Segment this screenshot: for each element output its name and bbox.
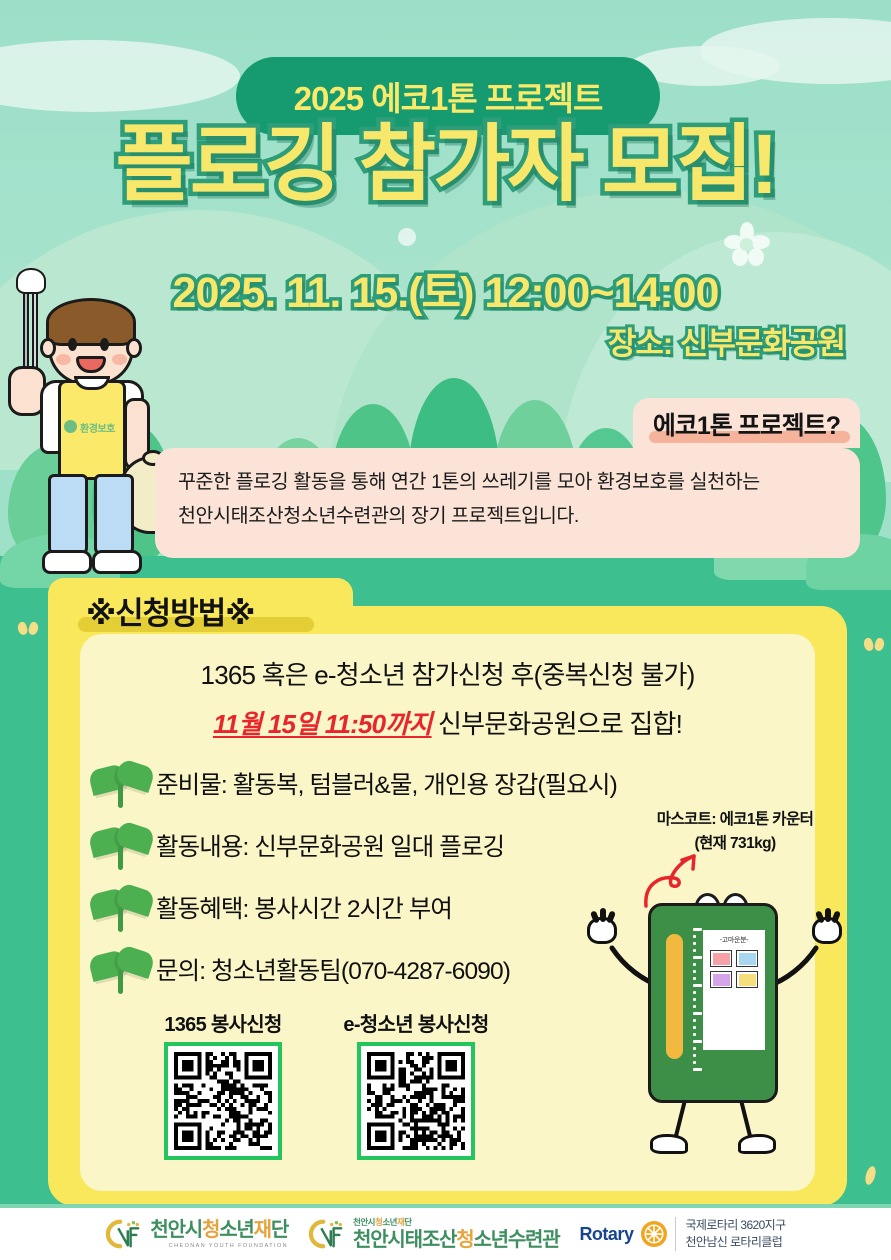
logo-rotary: Rotary 국제로타리 3620지구 천안남신 로타리클럽 <box>579 1217 785 1252</box>
boy-eye <box>68 338 77 351</box>
logo-title: 천안시태조산청소년수련관 <box>353 1230 559 1250</box>
qr-code-echeongsonyeon[interactable] <box>357 1042 475 1160</box>
rotary-wordmark: Rotary <box>579 1224 633 1245</box>
leaf-icon <box>88 882 156 932</box>
footer-logos: 천안시청소년재단 CHEONAN YOUTH FOUNDATION 천안시청소년… <box>0 1204 891 1260</box>
qr-code-1365[interactable] <box>164 1042 282 1160</box>
list-item: 활동내용: 신부문화공원 일대 플로깅 <box>88 814 688 876</box>
apply-line-1: 1365 혹은 e-청소년 참가신청 후(중복신청 불가) <box>80 655 815 692</box>
leaf-icon <box>88 944 156 994</box>
apply-line-2-rest: 신부문화공원으로 집합! <box>432 709 682 739</box>
poster-root: 2025 에코1톤 프로젝트 플로깅 참가자 모집! 2025. 11. 15.… <box>0 0 891 1260</box>
event-place: 장소: 신부문화공원 <box>608 318 845 363</box>
mascot-scale-ticks <box>693 928 696 1066</box>
mascot-hand-left <box>587 917 617 944</box>
mascot-body: -고마운분- <box>648 903 778 1103</box>
cyf-logo-icon <box>308 1217 346 1251</box>
apply-tab-label: ※신청방법※ <box>86 588 254 633</box>
boy-ear <box>126 338 142 358</box>
photo-card <box>736 950 758 967</box>
vest-logo-icon <box>64 420 77 433</box>
mascot-board: -고마운분- <box>703 930 765 1050</box>
about-line-2: 천안시태조산청소년수련관의 장기 프로젝트입니다. <box>178 500 843 534</box>
leaf-icon <box>88 820 156 870</box>
mascot-progress-bar <box>666 934 683 1059</box>
boy-eye <box>100 338 109 351</box>
rotary-wheel-icon <box>640 1220 668 1248</box>
boy-pants <box>94 474 134 556</box>
about-line-1: 꾸준한 플로깅 활동을 통해 연간 1톤의 쓰레기를 모아 환경보호를 실천하는 <box>178 466 843 500</box>
photo-card <box>710 950 732 967</box>
list-item: 준비물: 활동복, 텀블러&물, 개인용 장갑(필요시) <box>88 752 688 814</box>
logo-subtitle: CHEONAN YOUTH FOUNDATION <box>150 1243 288 1249</box>
boy-cheek <box>112 354 127 365</box>
boy-shoe <box>92 550 142 574</box>
logo-title: 천안시청소년재단 <box>150 1220 288 1240</box>
boy-pants <box>48 474 88 556</box>
mascot-shoe-left <box>650 1134 688 1154</box>
photo-card <box>736 971 758 988</box>
logo-parent-org: 천안시청소년재단 <box>353 1218 559 1227</box>
page-title: 플로깅 참가자 모집! <box>0 120 891 208</box>
boy-ear <box>40 338 56 358</box>
mascot-shoe-right <box>738 1134 776 1154</box>
logo-taejosan-youth-center: 천안시청소년재단 천안시태조산청소년수련관 <box>308 1217 559 1251</box>
bullet-text: 활동내용: 신부문화공원 일대 플로깅 <box>156 828 504 863</box>
boy-hair <box>46 298 136 346</box>
rotary-line-1: 국제로타리 3620지구 <box>685 1217 785 1234</box>
bullet-text: 준비물: 활동복, 텀블러&물, 개인용 장갑(필요시) <box>156 766 617 801</box>
mascot-caption: 마스코트: 에코1톤 카운터 (현재 731kg) <box>625 808 845 856</box>
apply-line-2: 11월 15일 11:50까지 신부문화공원으로 집합! <box>80 704 815 741</box>
rotary-district-text: 국제로타리 3620지구 천안남신 로타리클럽 <box>675 1217 785 1252</box>
vest-text: 환경보호 <box>80 420 115 435</box>
about-badge-text: 에코1톤 프로젝트? <box>653 406 840 442</box>
cyf-logo-icon <box>105 1217 143 1251</box>
bullet-text: 문의: 청소년활동팀(070-4287-6090) <box>156 952 510 987</box>
bullet-text: 활동혜택: 봉사시간 2시간 부여 <box>156 890 452 925</box>
boy-cheek <box>56 354 71 365</box>
logo-cheonan-youth-foundation: 천안시청소년재단 CHEONAN YOUTH FOUNDATION <box>105 1217 288 1251</box>
eyebrow-text: 2025 에코1톤 프로젝트 <box>294 72 603 120</box>
boy-shoe <box>42 550 92 574</box>
qr-label-1365: 1365 봉사신청 <box>123 1008 323 1037</box>
mascot-board-photos <box>703 950 765 988</box>
mascot-caption-line1: 마스코트: 에코1톤 카운터 <box>625 808 845 832</box>
rotary-line-2: 천안남신 로타리클럽 <box>685 1234 785 1251</box>
cloud-dot <box>398 228 416 246</box>
butterfly-icon <box>864 638 886 650</box>
leaf-icon <box>88 758 156 808</box>
qr-label-echeongsonyeon: e-청소년 봉사신청 <box>316 1008 516 1037</box>
mascot-hand-right <box>812 917 842 944</box>
about-badge: 에코1톤 프로젝트? <box>633 398 860 448</box>
apply-deadline: 11월 15일 11:50까지 <box>213 709 432 739</box>
photo-card <box>710 971 732 988</box>
mascot-board-caption: -고마운분- <box>703 935 765 945</box>
butterfly-icon <box>18 622 40 634</box>
about-description: 꾸준한 플로깅 활동을 통해 연간 1톤의 쓰레기를 모아 환경보호를 실천하는… <box>178 466 843 533</box>
